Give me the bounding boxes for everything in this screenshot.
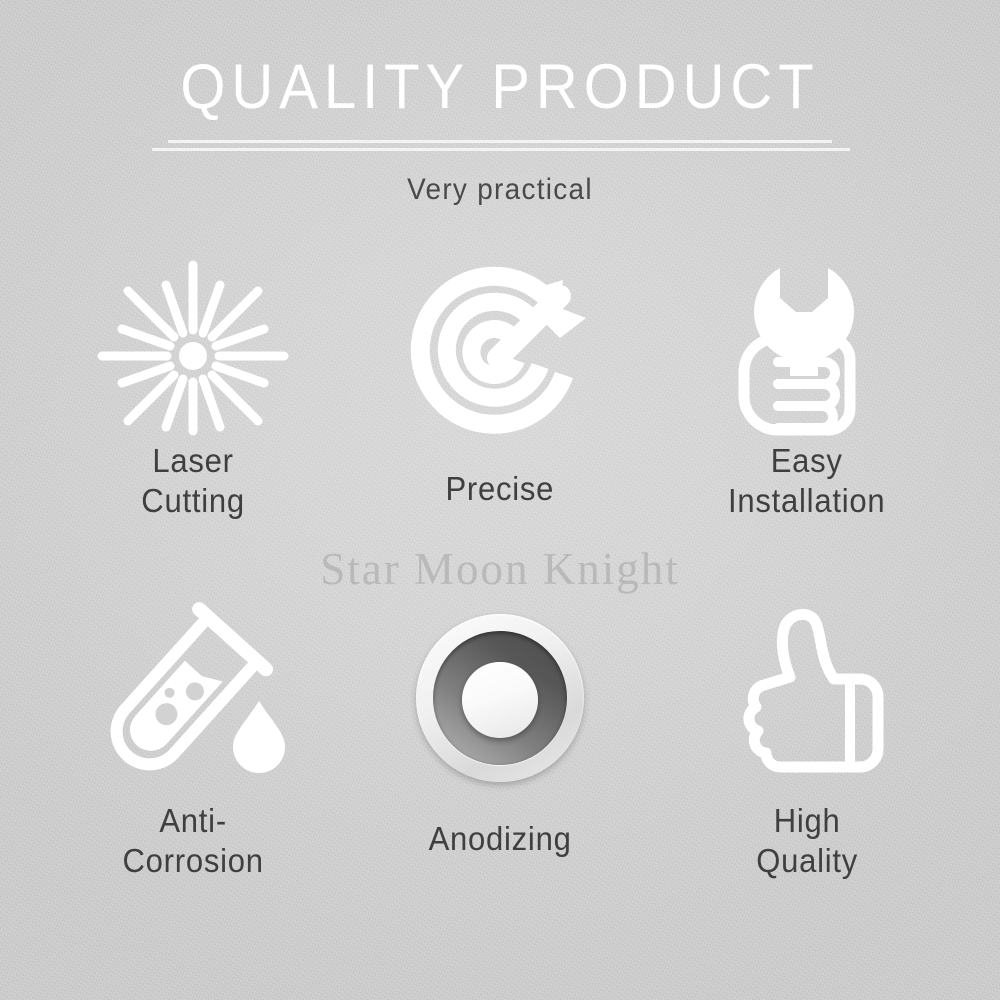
- feature-label: Anti- Corrosion: [123, 801, 264, 882]
- page-subtitle: Very practical: [35, 161, 965, 207]
- hand-wrench-icon: [707, 258, 907, 453]
- feature-label: Precise: [446, 469, 555, 509]
- divider-line-top: [168, 140, 832, 143]
- feature-label: Easy Installation: [728, 441, 885, 522]
- feature-item-precise: Precise: [347, 258, 654, 603]
- title-divider: [0, 135, 1000, 161]
- divider-line-bottom: [152, 148, 850, 151]
- poster-header: QUALITY PRODUCT Very practical: [0, 0, 1000, 207]
- feature-label: Anodizing: [428, 819, 571, 859]
- feature-item-anodizing: Anodizing: [347, 603, 654, 948]
- quality-product-poster: QUALITY PRODUCT Very practical: [0, 0, 1000, 1000]
- feature-item-high-quality: High Quality: [653, 603, 960, 948]
- feature-label: Laser Cutting: [142, 441, 246, 522]
- feature-grid: Laser Cutting Precise: [40, 258, 960, 948]
- feature-label: High Quality: [756, 801, 858, 882]
- target-dart-icon: [400, 258, 600, 453]
- test-tube-droplet-icon: [93, 603, 293, 793]
- anodized-disc-outer-ring: [416, 614, 584, 782]
- laser-burst-icon: [93, 258, 293, 453]
- feature-item-anti-corrosion: Anti- Corrosion: [40, 603, 347, 948]
- thumbs-up-icon: [707, 603, 907, 793]
- page-title: QUALITY PRODUCT: [40, 0, 960, 119]
- feature-item-easy-installation: Easy Installation: [653, 258, 960, 603]
- anodized-disc-icon: [400, 603, 600, 793]
- feature-item-laser-cutting: Laser Cutting: [40, 258, 347, 603]
- anodized-disc-knob: [462, 662, 538, 738]
